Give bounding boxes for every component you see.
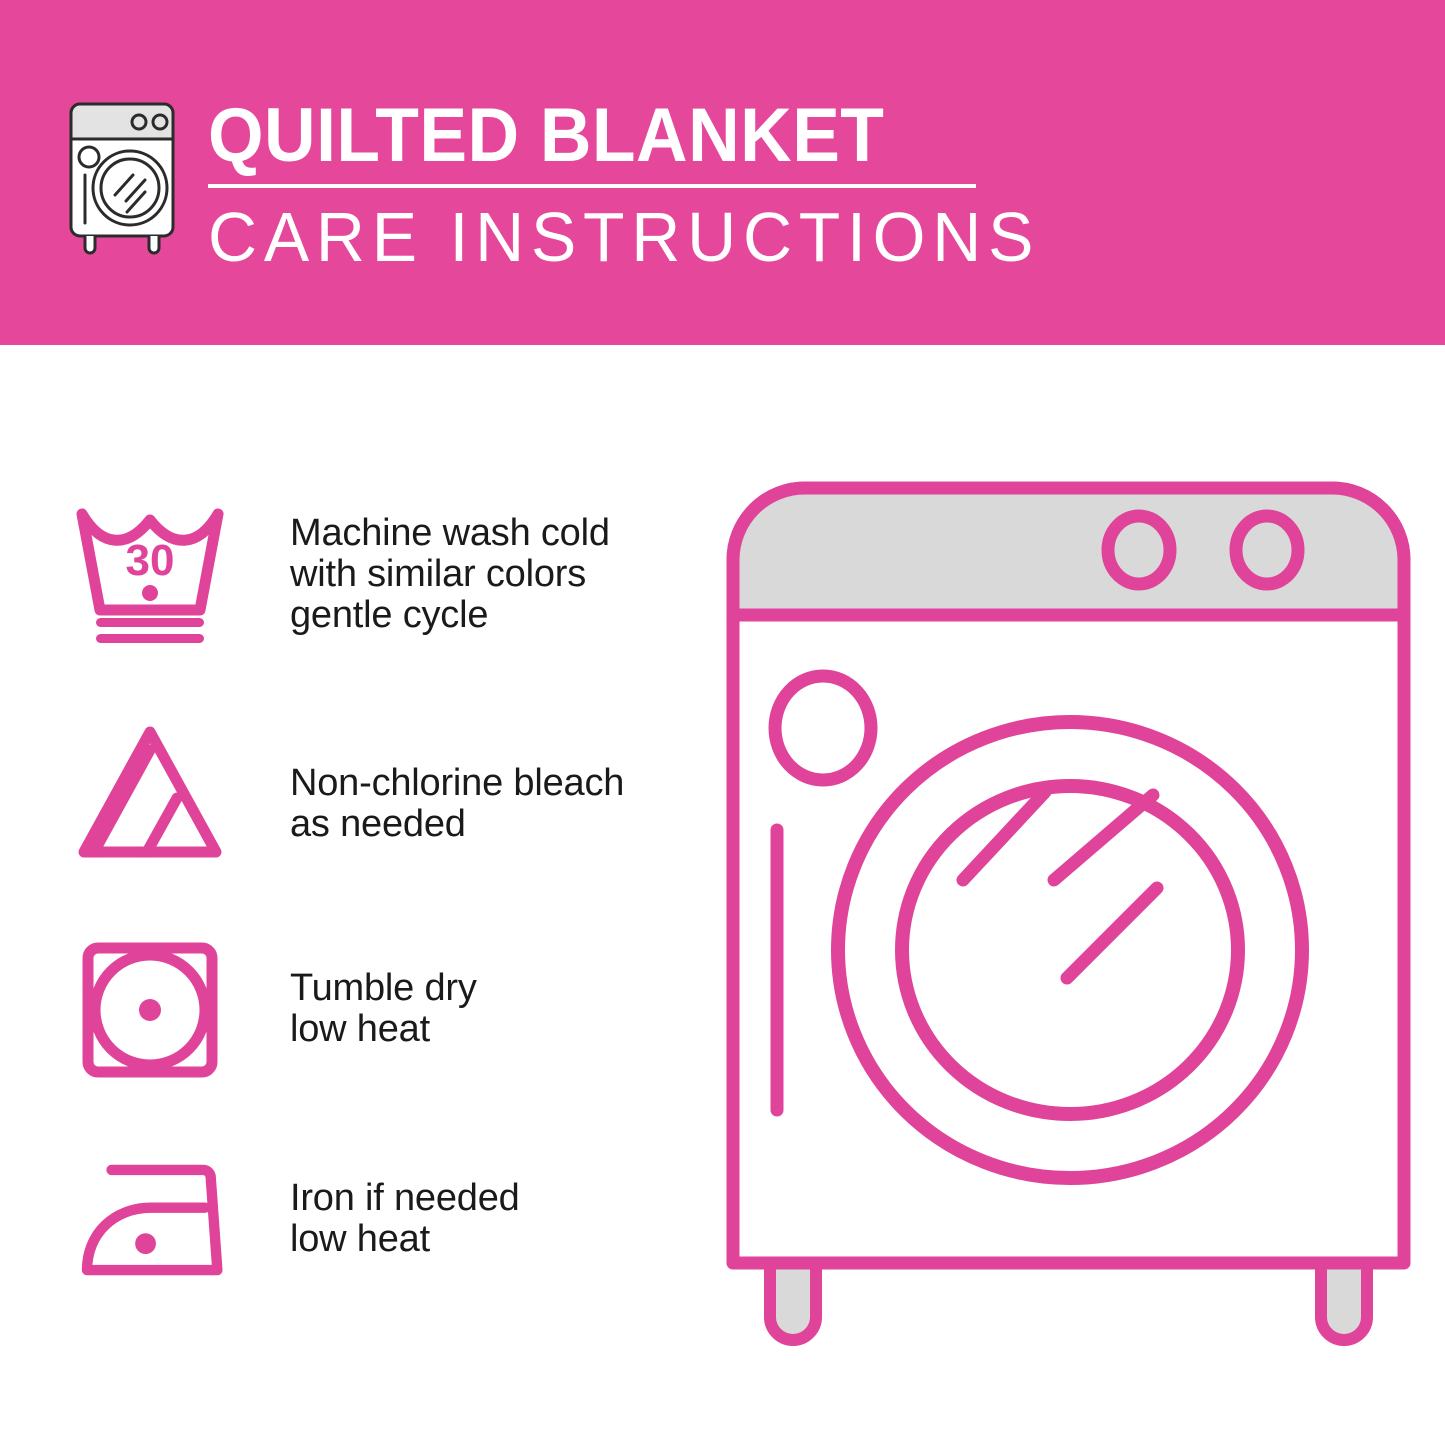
header-text-block: QUILTED BLANKET CARE INSTRUCTIONS [208, 96, 998, 274]
page-title: QUILTED BLANKET [208, 96, 951, 176]
care-label-tumble-dry: Tumble dry low heat [290, 968, 477, 1050]
svg-text:30: 30 [126, 536, 175, 585]
wash-basin-30-icon: 30 [70, 500, 240, 650]
tumble-dry-low-icon [70, 935, 240, 1085]
care-instructions-infographic: QUILTED BLANKET CARE INSTRUCTIONS 30 [0, 0, 1445, 1445]
header-banner: QUILTED BLANKET CARE INSTRUCTIONS [0, 0, 1445, 345]
front-load-washing-machine-illustration [715, 470, 1425, 1370]
care-instruction-list: 30 Machine wash cold with similar colors… [0, 345, 700, 1445]
washing-machine-icon [57, 95, 187, 255]
page-subtitle: CARE INSTRUCTIONS [208, 200, 974, 274]
title-divider [208, 184, 976, 188]
care-label-bleach: Non-chlorine bleach as needed [290, 763, 624, 845]
care-label-machine-wash: Machine wash cold with similar colors ge… [290, 513, 610, 636]
iron-low-heat-icon [70, 1145, 240, 1295]
care-label-iron: Iron if needed low heat [290, 1178, 520, 1260]
bleach-triangle-icon [70, 720, 240, 870]
